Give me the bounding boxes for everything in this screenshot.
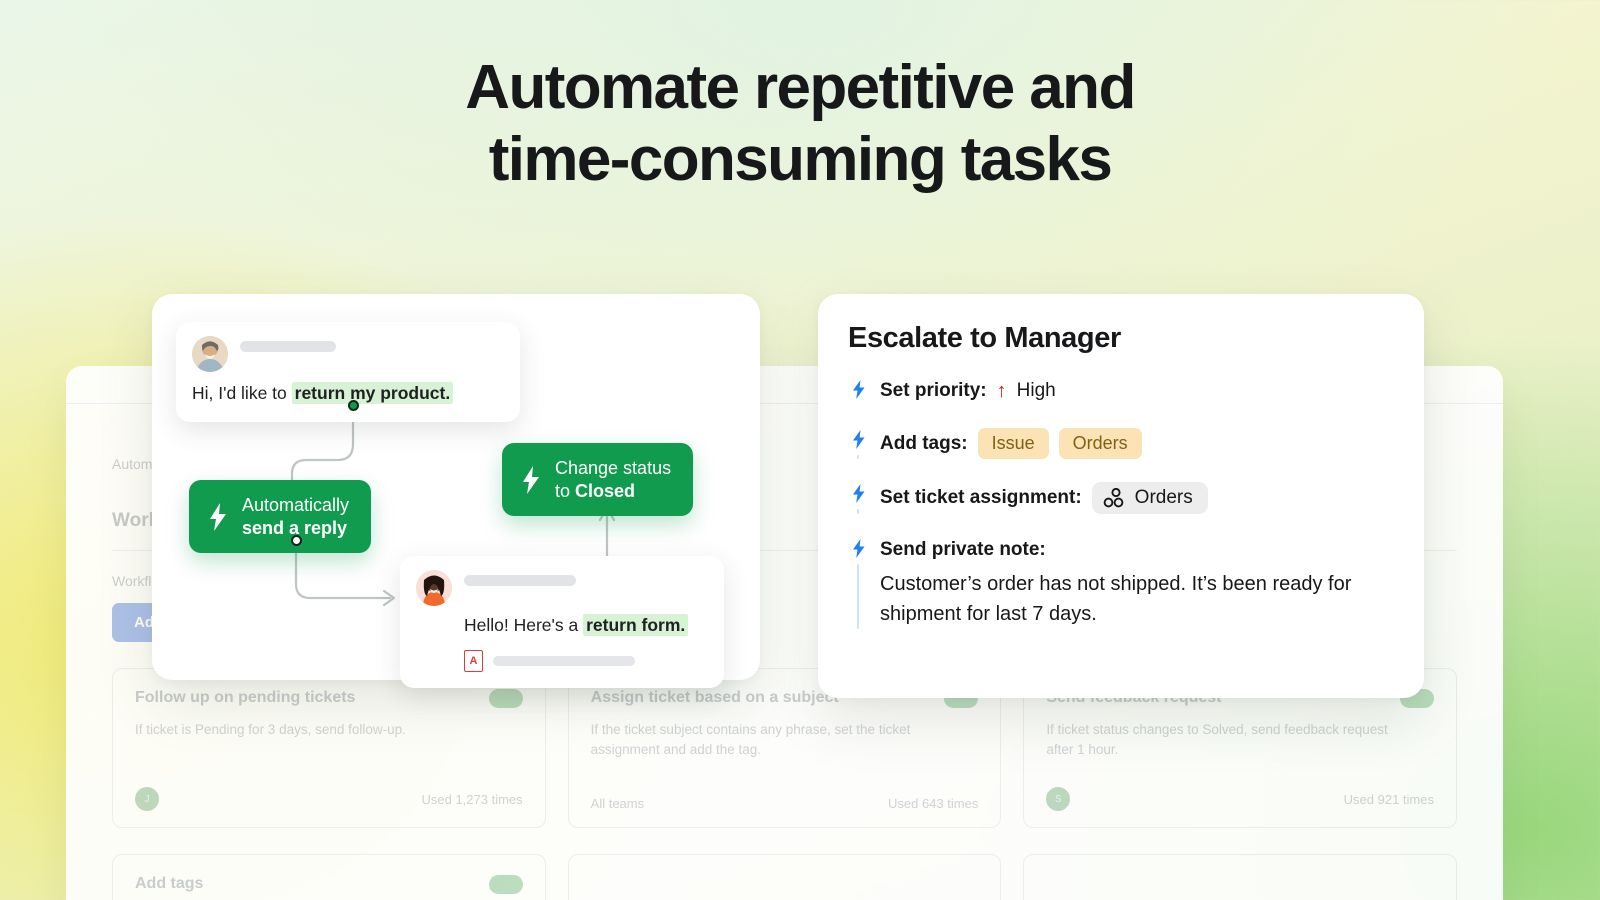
- agent-message-bubble: Hello! Here's a return form. A: [400, 556, 724, 688]
- action-label: Set ticket assignment:: [880, 487, 1082, 509]
- message-header: [192, 336, 502, 372]
- tag-chip[interactable]: Issue: [978, 428, 1049, 459]
- bolt-column: [848, 536, 868, 629]
- private-note-text[interactable]: Customer’s order has not shipped. It’s b…: [880, 570, 1394, 629]
- workflow-card-description: If ticket status changes to Solved, send…: [1046, 720, 1414, 761]
- attachment-row[interactable]: A: [464, 650, 706, 672]
- bolt-column: [848, 377, 868, 405]
- action-label: Change status to Closed: [555, 457, 671, 502]
- lightning-bolt-icon: [851, 539, 866, 558]
- headline-line-1: Automate repetitive and: [0, 52, 1600, 124]
- avatar: S: [1046, 787, 1070, 811]
- headline: Automate repetitive and time-consuming t…: [0, 52, 1600, 196]
- label-row: Set priority: ↑ High: [880, 378, 1394, 404]
- action-line-1: Automatically: [242, 495, 349, 515]
- workflow-card-title: Add tags: [135, 875, 203, 893]
- workflow-toggle[interactable]: [489, 875, 523, 894]
- priority-value[interactable]: High: [1017, 380, 1056, 402]
- workflow-card-title: Follow up on pending tickets: [135, 689, 355, 707]
- automation-flow-card: Hi, I'd like to return my product. Autom…: [152, 294, 760, 680]
- file-name-placeholder-bar: [493, 656, 635, 666]
- workflow-card-footer: S Used 921 times: [1046, 787, 1434, 811]
- connector-line: [857, 509, 859, 514]
- action-send-reply[interactable]: Automatically send a reply: [189, 480, 371, 553]
- flow-node-dot[interactable]: [291, 535, 302, 546]
- customer-message-text: Hi, I'd like to return my product.: [192, 382, 502, 406]
- action-content: Set ticket assignment: Orders: [880, 481, 1394, 514]
- label-row: Set ticket assignment: Orders: [880, 482, 1394, 514]
- assignment-label: Orders: [1135, 487, 1193, 509]
- action-content: Send private note: Customer’s order has …: [880, 536, 1394, 629]
- action-label: Send private note:: [880, 539, 1046, 561]
- card-title: Escalate to Manager: [848, 322, 1394, 355]
- tag-chip[interactable]: Orders: [1059, 428, 1142, 459]
- connector-line: [857, 455, 859, 459]
- bolt-column: [848, 427, 868, 459]
- message-plain-text: Hello! Here's a: [464, 615, 583, 635]
- usage-count: Used 643 times: [888, 796, 978, 811]
- priority-up-arrow-icon: ↑: [997, 381, 1007, 401]
- action-label: Set priority:: [880, 380, 987, 402]
- group-users-icon: [1103, 488, 1126, 508]
- headline-line-2: time-consuming tasks: [0, 124, 1600, 196]
- label-row: Add tags: Issue Orders: [880, 428, 1394, 459]
- action-line-1: Change status: [555, 458, 671, 478]
- action-line-2-plain: to: [555, 481, 575, 501]
- action-row-set-assignment: Set ticket assignment: Orders: [848, 481, 1394, 536]
- flow-node-dot[interactable]: [348, 400, 359, 411]
- usage-count: Used 921 times: [1344, 792, 1434, 807]
- action-row-set-priority: Set priority: ↑ High: [848, 377, 1394, 427]
- action-content: Add tags: Issue Orders: [880, 427, 1394, 459]
- lightning-bolt-icon: [207, 503, 229, 531]
- label-row: Send private note:: [880, 537, 1394, 563]
- assignment-chip[interactable]: Orders: [1092, 482, 1208, 514]
- lightning-bolt-icon: [851, 484, 866, 503]
- action-label: Add tags:: [880, 433, 968, 455]
- lightning-bolt-icon: [851, 430, 866, 449]
- workflow-card[interactable]: Add tags: [112, 854, 546, 900]
- name-placeholder-bar: [464, 575, 576, 586]
- action-line-2-bold: Closed: [575, 481, 635, 501]
- message-plain-text: Hi, I'd like to: [192, 383, 292, 403]
- action-row-send-private-note: Send private note: Customer’s order has …: [848, 536, 1394, 629]
- message-highlight-text: return form.: [583, 614, 688, 636]
- connector-line: [857, 564, 859, 629]
- workflow-card[interactable]: [568, 854, 1002, 900]
- lightning-bolt-icon: [851, 380, 866, 399]
- action-list: Set priority: ↑ High Add tags: Issue Ord…: [848, 377, 1394, 629]
- avatar: [416, 570, 452, 606]
- action-change-status[interactable]: Change status to Closed: [502, 443, 693, 516]
- bolt-column: [848, 481, 868, 514]
- workflow-card-header: Follow up on pending tickets: [135, 689, 523, 708]
- action-row-add-tags: Add tags: Issue Orders: [848, 427, 1394, 481]
- workflow-card-title: Assign ticket based on a subject: [591, 689, 839, 707]
- workflow-card[interactable]: [1023, 854, 1457, 900]
- message-header: [416, 570, 706, 606]
- workflow-card-description: If the ticket subject contains any phras…: [591, 720, 959, 761]
- workflow-toggle[interactable]: [489, 689, 523, 708]
- workflow-card[interactable]: Follow up on pending tickets If ticket i…: [112, 668, 546, 828]
- usage-count: Used 1,273 times: [421, 792, 522, 807]
- lightning-bolt-icon: [520, 466, 542, 494]
- name-placeholder-bar: [240, 341, 336, 352]
- avatar: J: [135, 787, 159, 811]
- pdf-file-icon: A: [464, 650, 483, 672]
- action-label: Automatically send a reply: [242, 494, 349, 539]
- escalate-to-manager-card: Escalate to Manager Set priority: ↑ High: [818, 294, 1424, 698]
- action-content: Set priority: ↑ High: [880, 377, 1394, 405]
- agent-message-text: Hello! Here's a return form.: [464, 614, 706, 638]
- message-highlight-text: return my product.: [292, 382, 454, 404]
- workflow-card-description: If ticket is Pending for 3 days, send fo…: [135, 720, 503, 740]
- team-label: All teams: [591, 796, 644, 811]
- avatar: [192, 336, 228, 372]
- workflow-card-grid-row2: Add tags: [112, 854, 1457, 900]
- workflow-card-footer: J Used 1,273 times: [135, 787, 523, 811]
- workflow-card-header: Add tags: [135, 875, 523, 894]
- workflow-card-footer: All teams Used 643 times: [591, 796, 979, 811]
